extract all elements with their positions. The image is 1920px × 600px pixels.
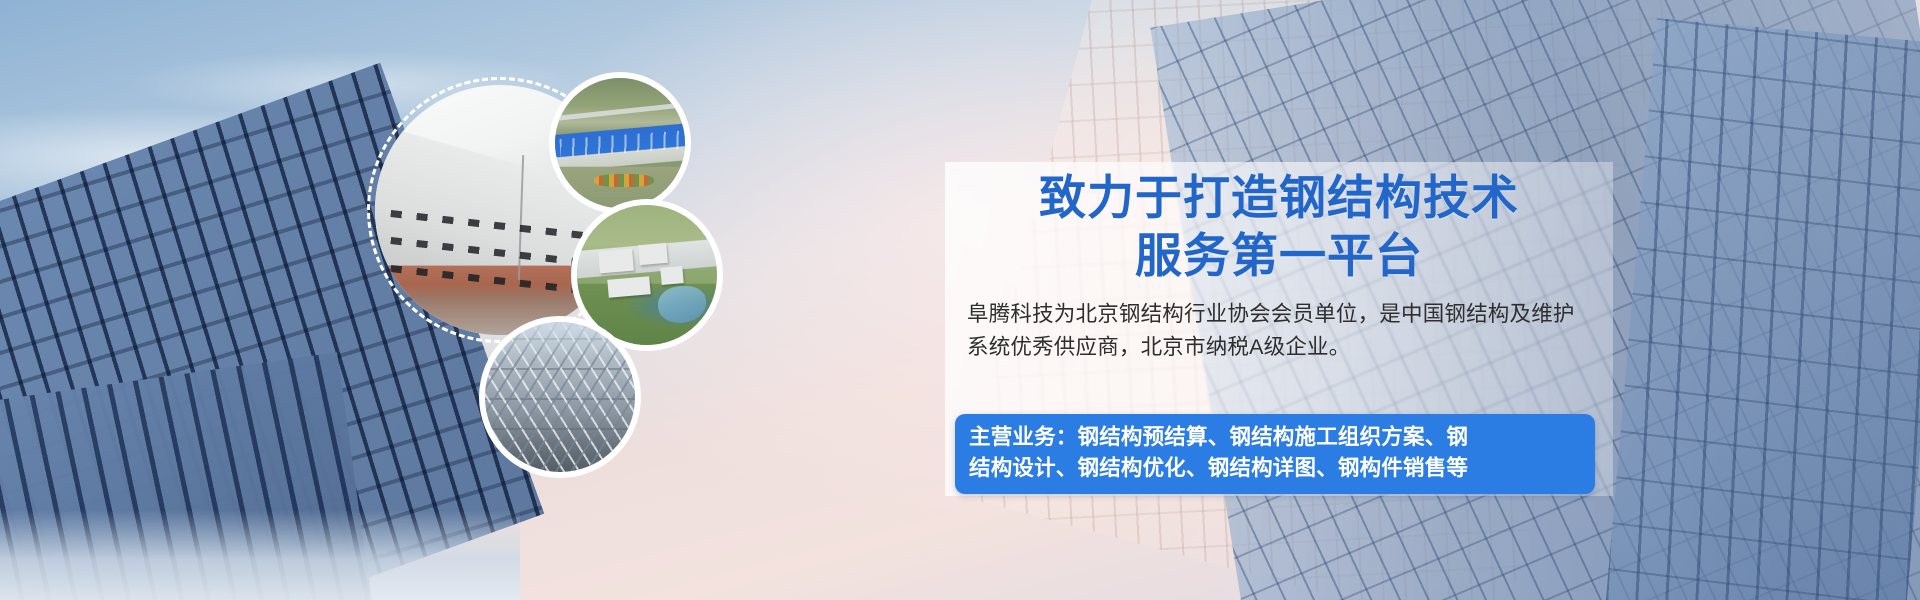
hero-banner: 致力于打造钢结构技术 服务第一平台 阜腾科技为北京钢结构行业协会会员单位，是中国…	[0, 0, 1920, 600]
campus-pond	[658, 286, 706, 322]
campus-block	[660, 266, 684, 285]
business-line-2: 结构设计、钢结构优化、钢结构详图、钢构件销售等	[969, 453, 1581, 484]
business-scope-box: 主营业务：钢结构预结算、钢结构施工组织方案、钢 结构设计、钢结构优化、钢结构详图…	[955, 414, 1595, 494]
banner-headline: 致力于打造钢结构技术 服务第一平台	[945, 170, 1613, 286]
collage-photo-3	[485, 322, 635, 472]
headline-line-2: 服务第一平台	[945, 228, 1613, 286]
banner-paragraph: 阜腾科技为北京钢结构行业协会会员单位，是中国钢结构及维护系统优秀供应商，北京市纳…	[967, 298, 1591, 364]
building-edge	[518, 155, 524, 280]
text-panel: 致力于打造钢结构技术 服务第一平台 阜腾科技为北京钢结构行业协会会员单位，是中国…	[945, 162, 1613, 496]
headline-line-1: 致力于打造钢结构技术	[1039, 173, 1519, 225]
campus-block	[598, 248, 633, 273]
business-line-1: 主营业务：钢结构预结算、钢结构施工组织方案、钢	[969, 422, 1581, 453]
blue-roof-factory-photo	[555, 78, 685, 208]
campus-block	[638, 243, 668, 265]
background-building-far-right	[1604, 18, 1920, 600]
facade-pattern	[1604, 18, 1920, 600]
ground-haze	[0, 510, 520, 600]
sky-gap	[485, 322, 635, 361]
collage-photo-1	[555, 78, 685, 208]
steel-space-frame-photo	[485, 322, 635, 472]
campus-block	[607, 276, 650, 298]
road-line	[555, 102, 685, 122]
flower-bed	[594, 174, 654, 187]
photo-collage	[355, 60, 755, 470]
paragraph-line-1: 阜腾科技为北京钢结构行业协会会员单位，是中国钢结构及维	[967, 302, 1553, 326]
roof-ridges	[560, 131, 683, 158]
